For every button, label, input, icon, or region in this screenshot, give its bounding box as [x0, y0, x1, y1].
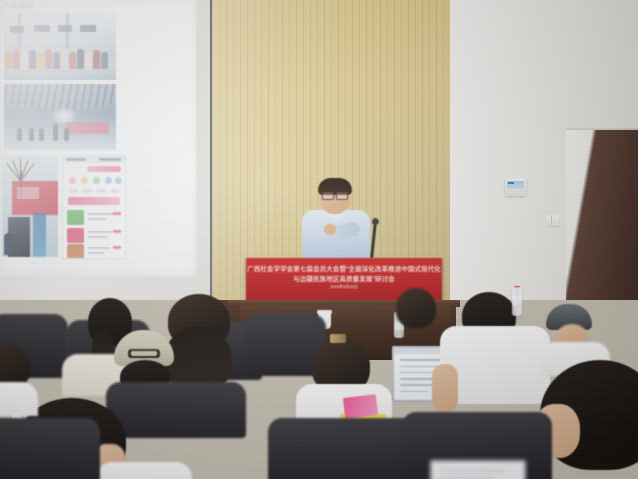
audience-seating [0, 286, 638, 479]
banner-line-2: 与边疆民族地区高质量发展"研讨会 [246, 273, 442, 283]
list-item [67, 210, 121, 227]
laptop [430, 460, 526, 479]
ecommerce-app-screenshot [62, 155, 126, 259]
seat [106, 382, 246, 438]
projection-screen: 市场调研 [0, 0, 196, 276]
water-bottle [512, 286, 522, 316]
seat [268, 418, 418, 479]
seat [0, 418, 100, 479]
night-venue-photo [4, 84, 116, 150]
list-item [396, 288, 436, 328]
banner-line-1: 广西社会学学会第七届会员大会暨"全面深化改革推进中国式现代化 [246, 263, 442, 273]
market-interior-photo [4, 13, 116, 80]
list-item [67, 228, 121, 245]
conference-photo: 市场调研 [0, 0, 638, 479]
slide-heading: 市场调研 [3, 1, 35, 11]
side-door [566, 130, 638, 300]
app-search-bar [87, 166, 121, 172]
speaker-at-podium [296, 180, 376, 262]
light-switch-icon[interactable] [546, 215, 559, 226]
list-item [67, 244, 121, 259]
thermostat-panel-icon[interactable] [505, 178, 526, 196]
storefront-photo [2, 155, 58, 257]
